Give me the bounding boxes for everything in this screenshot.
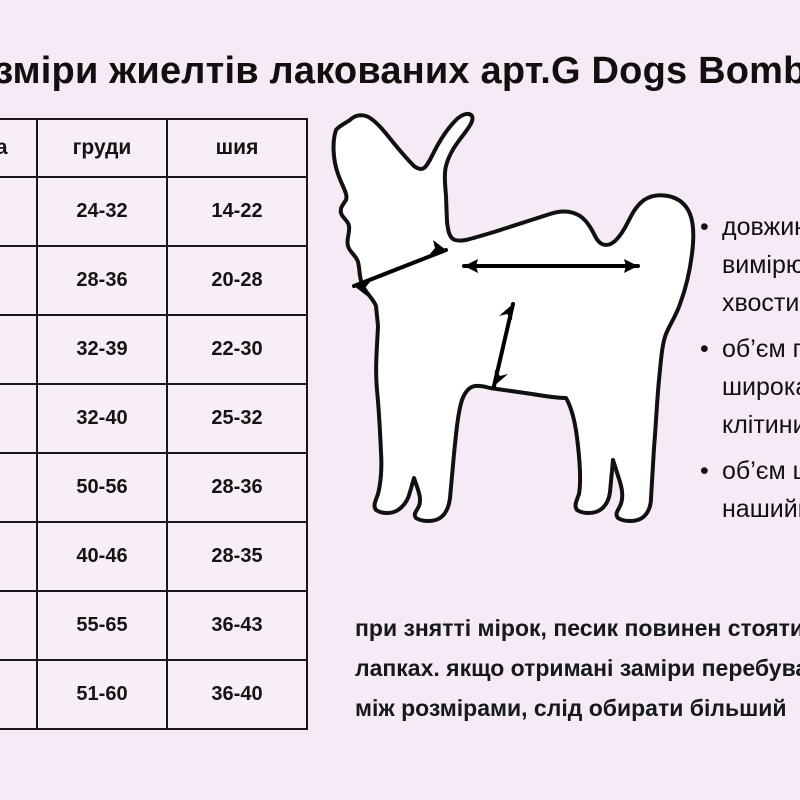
column-header-chest: груди bbox=[37, 119, 167, 177]
cell-neck: 20-28 bbox=[167, 246, 307, 315]
cell-size bbox=[0, 453, 37, 522]
cell-chest: 28-36 bbox=[37, 246, 167, 315]
cell-size bbox=[0, 522, 37, 591]
cell-size bbox=[0, 177, 37, 246]
table-row: 51-60 36-40 bbox=[0, 660, 307, 729]
table-row: 55-65 36-43 bbox=[0, 591, 307, 660]
cell-neck: 25-32 bbox=[167, 384, 307, 453]
table-row: 24-32 14-22 bbox=[0, 177, 307, 246]
footer-instructions: при знятті мірок, песик повинен стояти н… bbox=[355, 608, 800, 728]
column-header-size: розміра bbox=[0, 119, 37, 177]
cell-chest: 32-39 bbox=[37, 315, 167, 384]
list-item: довжина спинки вимірюється до хвостика bbox=[722, 208, 800, 322]
column-header-neck: шия bbox=[167, 119, 307, 177]
cell-chest: 24-32 bbox=[37, 177, 167, 246]
cell-chest: 50-56 bbox=[37, 453, 167, 522]
list-item: об’єм шиї — де нашийник bbox=[722, 452, 800, 528]
cell-neck: 28-36 bbox=[167, 453, 307, 522]
table-row: 32-40 25-32 bbox=[0, 384, 307, 453]
cell-size bbox=[0, 246, 37, 315]
cell-neck: 28-35 bbox=[167, 522, 307, 591]
table-row: 28-36 20-28 bbox=[0, 246, 307, 315]
cell-neck: 14-22 bbox=[167, 177, 307, 246]
cell-chest: 55-65 bbox=[37, 591, 167, 660]
cell-chest: 40-46 bbox=[37, 522, 167, 591]
table-header-row: розміра груди шия bbox=[0, 119, 307, 177]
dog-outline-shape bbox=[334, 114, 694, 521]
cell-chest: 32-40 bbox=[37, 384, 167, 453]
cell-neck: 22-30 bbox=[167, 315, 307, 384]
table-row: 32-39 22-30 bbox=[0, 315, 307, 384]
size-chart-table: розміра груди шия 24-32 14-22 28-36 20-2… bbox=[0, 118, 308, 730]
cell-size bbox=[0, 384, 37, 453]
cell-size bbox=[0, 660, 37, 729]
cell-size bbox=[0, 591, 37, 660]
cell-size bbox=[0, 315, 37, 384]
measurement-notes-list: довжина спинки вимірюється до хвостика о… bbox=[700, 208, 800, 536]
cell-neck: 36-43 bbox=[167, 591, 307, 660]
cell-chest: 51-60 bbox=[37, 660, 167, 729]
cell-neck: 36-40 bbox=[167, 660, 307, 729]
page-title: розміри жиелтів лакованих арт.G Dogs Bom… bbox=[0, 48, 800, 94]
dog-illustration bbox=[318, 108, 704, 536]
list-item: об’єм грудей — широка частина клітини bbox=[722, 330, 800, 444]
table-row: 40-46 28-35 bbox=[0, 522, 307, 591]
table-row: 50-56 28-36 bbox=[0, 453, 307, 522]
infographic-canvas: розміри жиелтів лакованих арт.G Dogs Bom… bbox=[0, 0, 800, 800]
